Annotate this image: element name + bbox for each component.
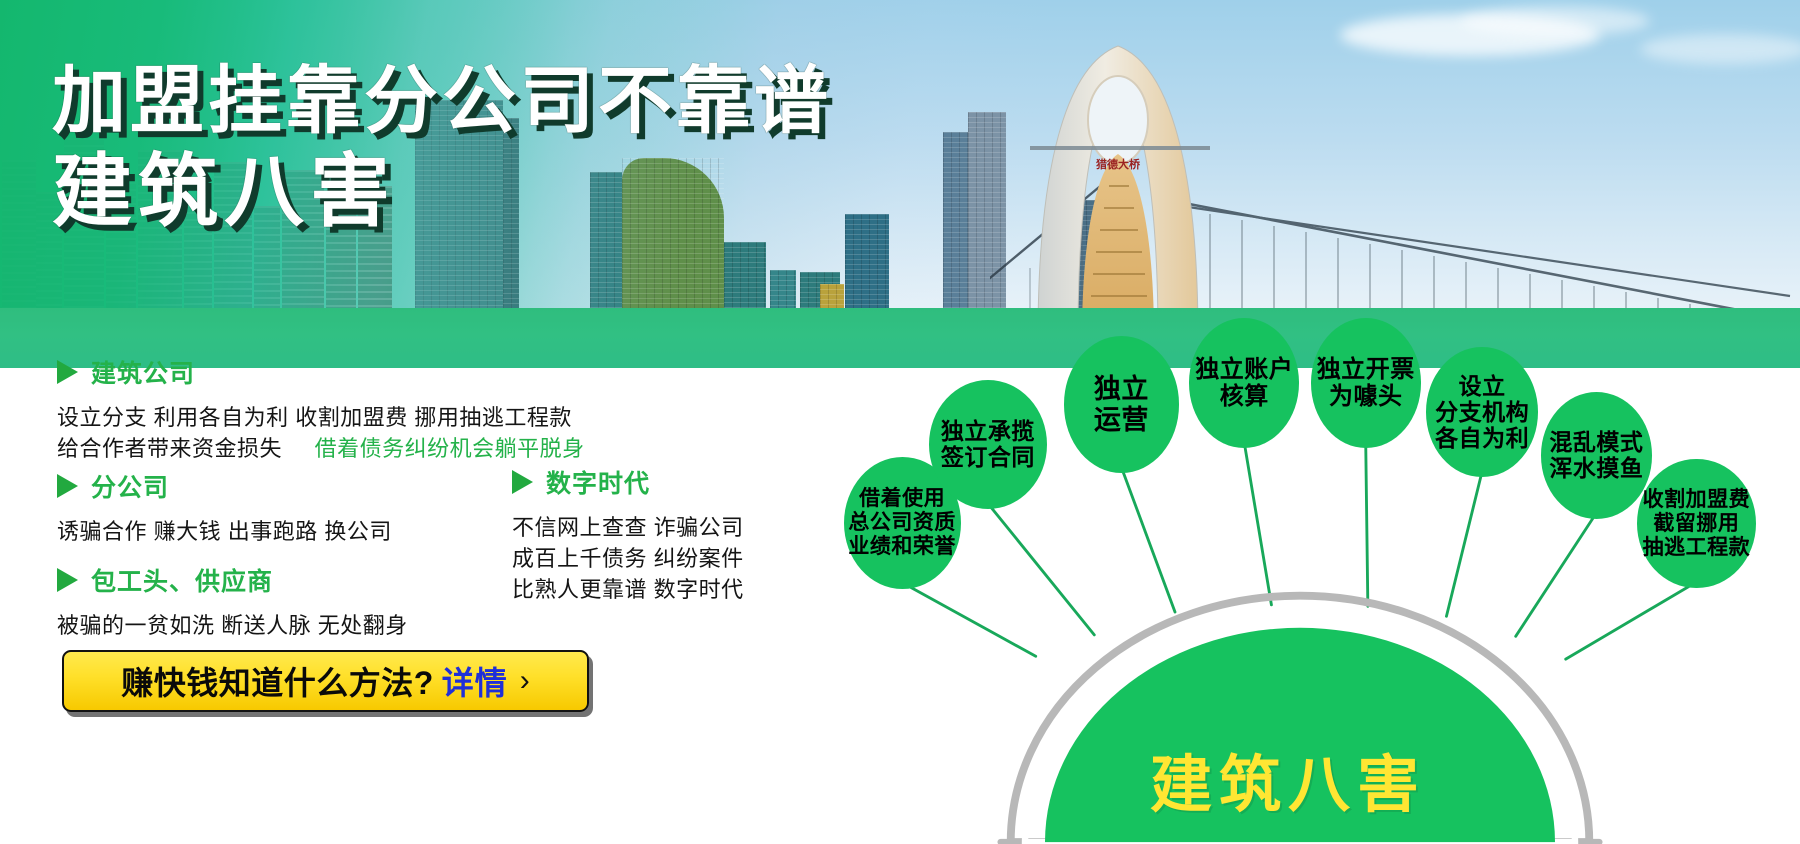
chevron-right-icon: › — [520, 664, 530, 698]
bubble-label: 设立分支机构各自为利 — [1435, 373, 1529, 452]
diagram-bubble-2[interactable]: 独立承揽签订合同 — [929, 380, 1048, 510]
diagram-bubble-5[interactable]: 独立开票为噱头 — [1311, 318, 1421, 448]
bubble-connector — [1366, 443, 1368, 607]
bubble-label: 混乱模式浑水摸鱼 — [1549, 429, 1643, 481]
section-contractor-supplier: 包工头、供应商 被骗的一贫如洗 断送人脉 无处翻身 — [57, 562, 408, 641]
section-heading: 分公司 — [57, 468, 392, 504]
section-body: 设立分支 利用各自为利 收割加盟费 挪用抽逃工程款 给合作者带来资金损失 借着债… — [57, 402, 585, 464]
bubble-label: 独立开票为噱头 — [1317, 356, 1415, 411]
headline-line-2: 建筑八害 — [52, 148, 832, 236]
triangle-bullet-icon — [57, 360, 78, 384]
section-body: 被骗的一贫如洗 断送人脉 无处翻身 — [57, 610, 408, 641]
body-line-black: 设立分支 利用各自为利 收割加盟费 挪用抽逃工程款 — [57, 405, 572, 430]
section-heading: 建筑公司 — [57, 354, 585, 390]
dome-center-label: 建筑八害 — [1150, 734, 1426, 824]
bubble-connector — [902, 583, 1036, 657]
section-heading: 数字时代 — [512, 464, 744, 500]
cta-main-text: 赚快钱知道什么方法? — [121, 658, 434, 704]
cta-link-text: 详情 — [442, 658, 508, 704]
section-body: 诱骗合作 赚大钱 出事跑路 换公司 — [57, 516, 392, 547]
body-line-black: 不信网上查查 诈骗公司 — [512, 515, 744, 540]
eight-harms-diagram: 借着使用总公司资质业绩和荣誉独立承揽签订合同独立运营独立账户核算独立开票为噱头设… — [800, 340, 1800, 844]
section-branch-company: 分公司 诱骗合作 赚大钱 出事跑路 换公司 — [57, 468, 392, 547]
bubble-label: 独立承揽签订合同 — [941, 418, 1035, 470]
bubble-label: 独立账户核算 — [1195, 356, 1293, 411]
bubble-connector — [1566, 582, 1697, 659]
diagram-bubble-4[interactable]: 独立账户核算 — [1189, 318, 1299, 448]
bubble-connector — [1446, 471, 1482, 616]
bubble-connector — [988, 503, 1094, 634]
diagram-bubble-7[interactable]: 混乱模式浑水摸鱼 — [1541, 392, 1652, 519]
bubble-connector — [1244, 443, 1271, 605]
section-body: 不信网上查查 诈骗公司 成百上千债务 纠纷案件 比熟人更靠谱 数字时代 — [512, 512, 744, 606]
bubble-label: 借着使用总公司资质业绩和荣誉 — [848, 487, 956, 559]
section-heading: 包工头、供应商 — [57, 562, 408, 598]
diagram-bubble-3[interactable]: 独立运营 — [1064, 336, 1180, 473]
body-line-black: 成百上千债务 纠纷案件 — [512, 546, 744, 571]
triangle-bullet-icon — [57, 474, 78, 498]
page-title: 加盟挂靠分公司不靠谱 建筑八害 — [52, 62, 832, 236]
triangle-bullet-icon — [512, 470, 533, 494]
details-cta-button[interactable]: 赚快钱知道什么方法? 详情 › — [62, 650, 589, 712]
section-title-text: 分公司 — [91, 468, 169, 504]
section-digital-era: 数字时代 不信网上查查 诈骗公司 成百上千债务 纠纷案件 比熟人更靠谱 数字时代 — [512, 464, 744, 606]
infographic-page: 猎德大桥 加盟挂靠分公司不靠谱 建筑八害 建筑公司 设立分支 利用各自为利 收割… — [0, 0, 1800, 844]
body-line-green: 借着债务纠纷机会躺平脱身 — [315, 436, 585, 461]
triangle-bullet-icon — [57, 568, 78, 592]
section-title-text: 建筑公司 — [91, 354, 195, 390]
left-text-column: 建筑公司 设立分支 利用各自为利 收割加盟费 挪用抽逃工程款 给合作者带来资金损… — [0, 368, 800, 844]
body-line-black: 给合作者带来资金损失 — [57, 436, 282, 461]
section-title-text: 包工头、供应商 — [91, 562, 273, 598]
diagram-bubble-8[interactable]: 收割加盟费截留挪用抽逃工程款 — [1637, 459, 1756, 589]
section-construction-company: 建筑公司 设立分支 利用各自为利 收割加盟费 挪用抽逃工程款 给合作者带来资金损… — [57, 354, 585, 464]
header-banner: 猎德大桥 加盟挂靠分公司不靠谱 建筑八害 — [0, 0, 1800, 368]
body-line-black: 诱骗合作 赚大钱 出事跑路 换公司 — [57, 519, 392, 544]
headline-line-1: 加盟挂靠分公司不靠谱 — [52, 62, 832, 140]
section-title-text: 数字时代 — [546, 464, 650, 500]
body-line-black: 被骗的一贫如洗 断送人脉 无处翻身 — [57, 613, 408, 638]
bubble-connector — [1516, 513, 1597, 636]
bubble-connector — [1121, 467, 1175, 612]
body-line-black: 比熟人更靠谱 数字时代 — [512, 577, 744, 602]
bridge-sign-text: 猎德大桥 — [1096, 157, 1141, 171]
bubble-label: 收割加盟费截留挪用抽逃工程款 — [1643, 488, 1751, 560]
bubble-label: 独立运营 — [1094, 374, 1149, 436]
bridge-illustration: 猎德大桥 — [990, 28, 1800, 338]
diagram-bubble-6[interactable]: 设立分支机构各自为利 — [1426, 347, 1537, 477]
